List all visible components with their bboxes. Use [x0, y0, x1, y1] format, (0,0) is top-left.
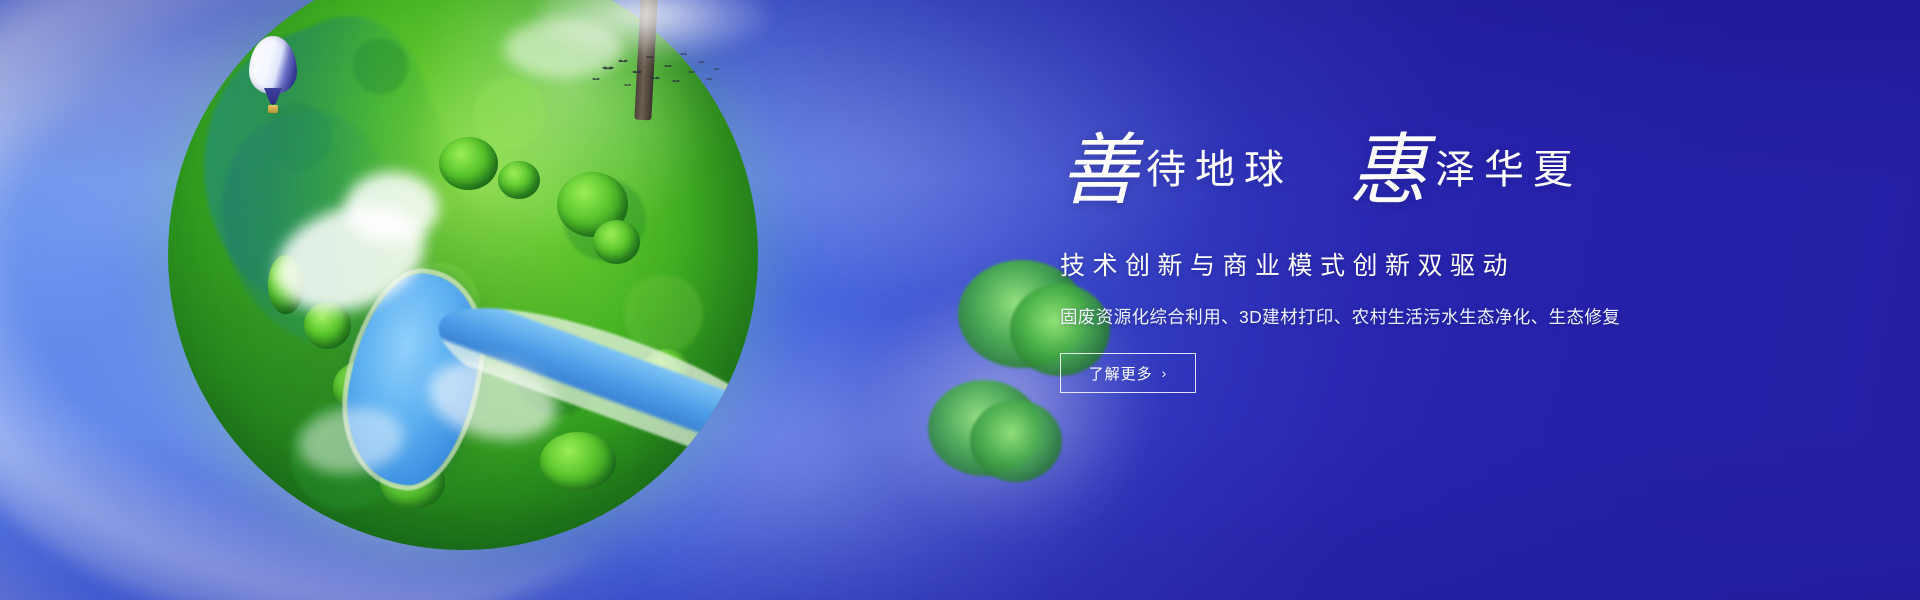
chevron-right-icon: › [1162, 366, 1168, 380]
page-subtitle: 技术创新与商业模式创新双驱动 [1060, 246, 1800, 282]
headline-char-shan: 善 [1060, 127, 1138, 214]
headline-char-hui: 惠 [1349, 127, 1427, 214]
learn-more-label: 了解更多 [1089, 363, 1153, 384]
hero-text-block: 善待地球惠泽华夏 技术创新与商业模式创新双驱动 固废资源化综合利用、3D建材打印… [1060, 132, 1800, 393]
headline-word-zehuaxia: 泽华夏 [1427, 147, 1582, 192]
globe-cloud-icon [345, 172, 439, 243]
learn-more-button[interactable]: 了解更多 › [1060, 353, 1196, 393]
flying-birds-icon [588, 48, 728, 96]
bush-icon [593, 220, 640, 264]
bush-icon [540, 432, 617, 491]
rim-tree-right-lower-icon [928, 380, 1068, 510]
headline-word-daidiqiu: 待地球 [1138, 147, 1293, 192]
page-title: 善待地球惠泽华夏 [1060, 132, 1800, 228]
hot-air-balloon-icon [249, 36, 297, 122]
bush-icon [498, 161, 539, 199]
hero-banner: 善待地球惠泽华夏 技术创新与商业模式创新双驱动 固废资源化综合利用、3D建材打印… [0, 0, 1920, 600]
page-description: 固废资源化综合利用、3D建材打印、农村生活污水生态净化、生态修复 [1060, 304, 1800, 329]
